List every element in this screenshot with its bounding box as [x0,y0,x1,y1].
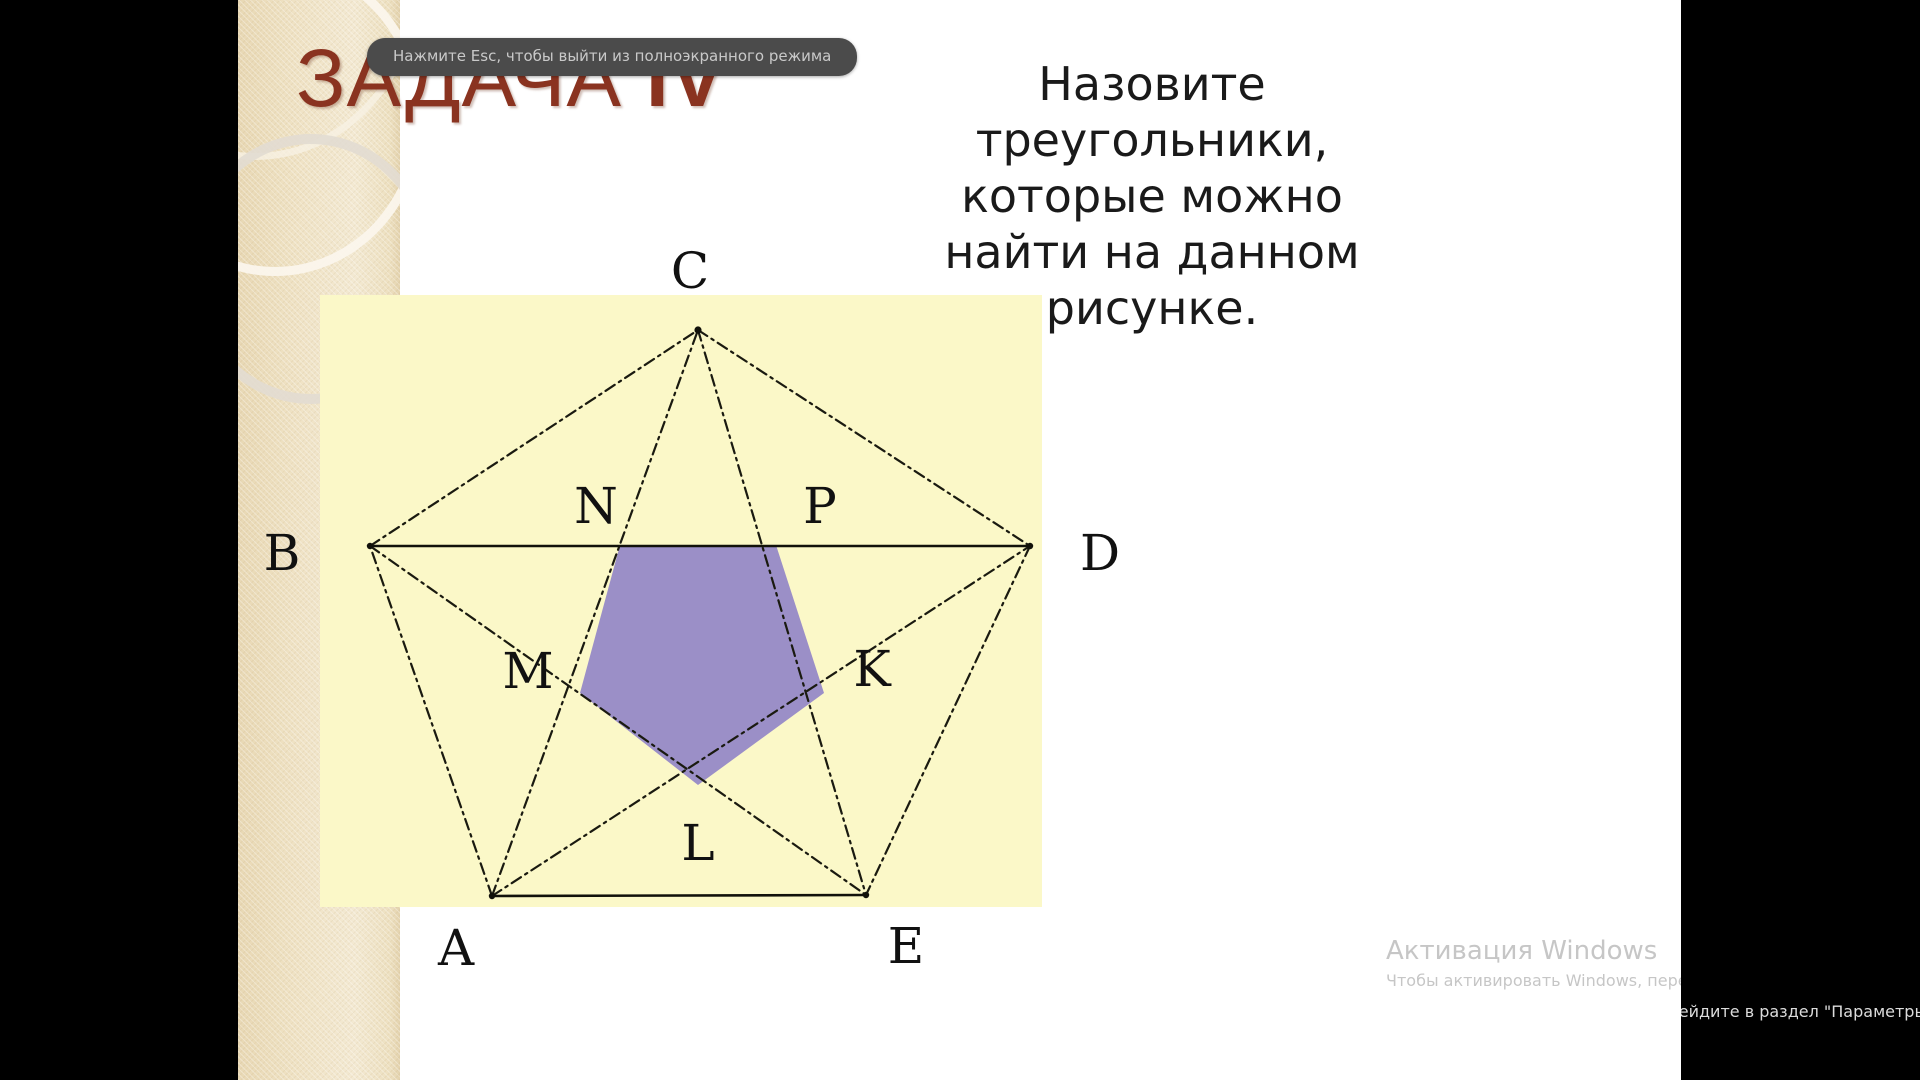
presentation-slide: ЗАДАЧА IV Назовите треугольники, которые… [238,0,1681,1080]
watermark-subtitle: Чтобы активировать Windows, перейдите в … [1386,971,1681,991]
windows-activation-watermark: Активация Windows Чтобы активировать Win… [1386,936,1681,991]
vertex-label-P: P [803,477,837,535]
vertex-label-N: N [574,477,618,535]
vertex-label-D: D [1080,524,1120,582]
vertex-label-K: K [853,640,892,698]
vertex-label-E: E [888,917,925,975]
watermark-subtitle-overflow: Чтобы активировать Windows, перейдите в … [1681,1002,1920,1022]
vertex-label-A: A [437,919,475,977]
vertex-label-L: L [681,814,714,872]
vertex-label-B: B [264,524,301,582]
side-A-E [492,895,866,896]
watermark-title: Активация Windows [1386,936,1681,967]
screen: ЗАДАЧА IV Назовите треугольники, которые… [0,0,1920,1080]
geometry-figure: B C D A E N P M K L [260,240,1320,960]
fullscreen-hint-toast: Нажмите Esc, чтобы выйти из полноэкранно… [367,38,857,76]
vertex-dot-D [1027,543,1033,549]
vertex-dot-A [489,893,495,899]
vertex-label-C: C [671,242,709,300]
windows-activation-watermark-overlay: Активация Windows Чтобы активировать Win… [1681,936,1920,1022]
vertex-dot-B [367,543,373,549]
vertex-dot-E [863,892,869,898]
fullscreen-hint-text: Нажмите Esc, чтобы выйти из полноэкранно… [393,47,831,65]
vertex-dot-C [694,326,701,333]
vertex-label-M: M [502,642,553,700]
